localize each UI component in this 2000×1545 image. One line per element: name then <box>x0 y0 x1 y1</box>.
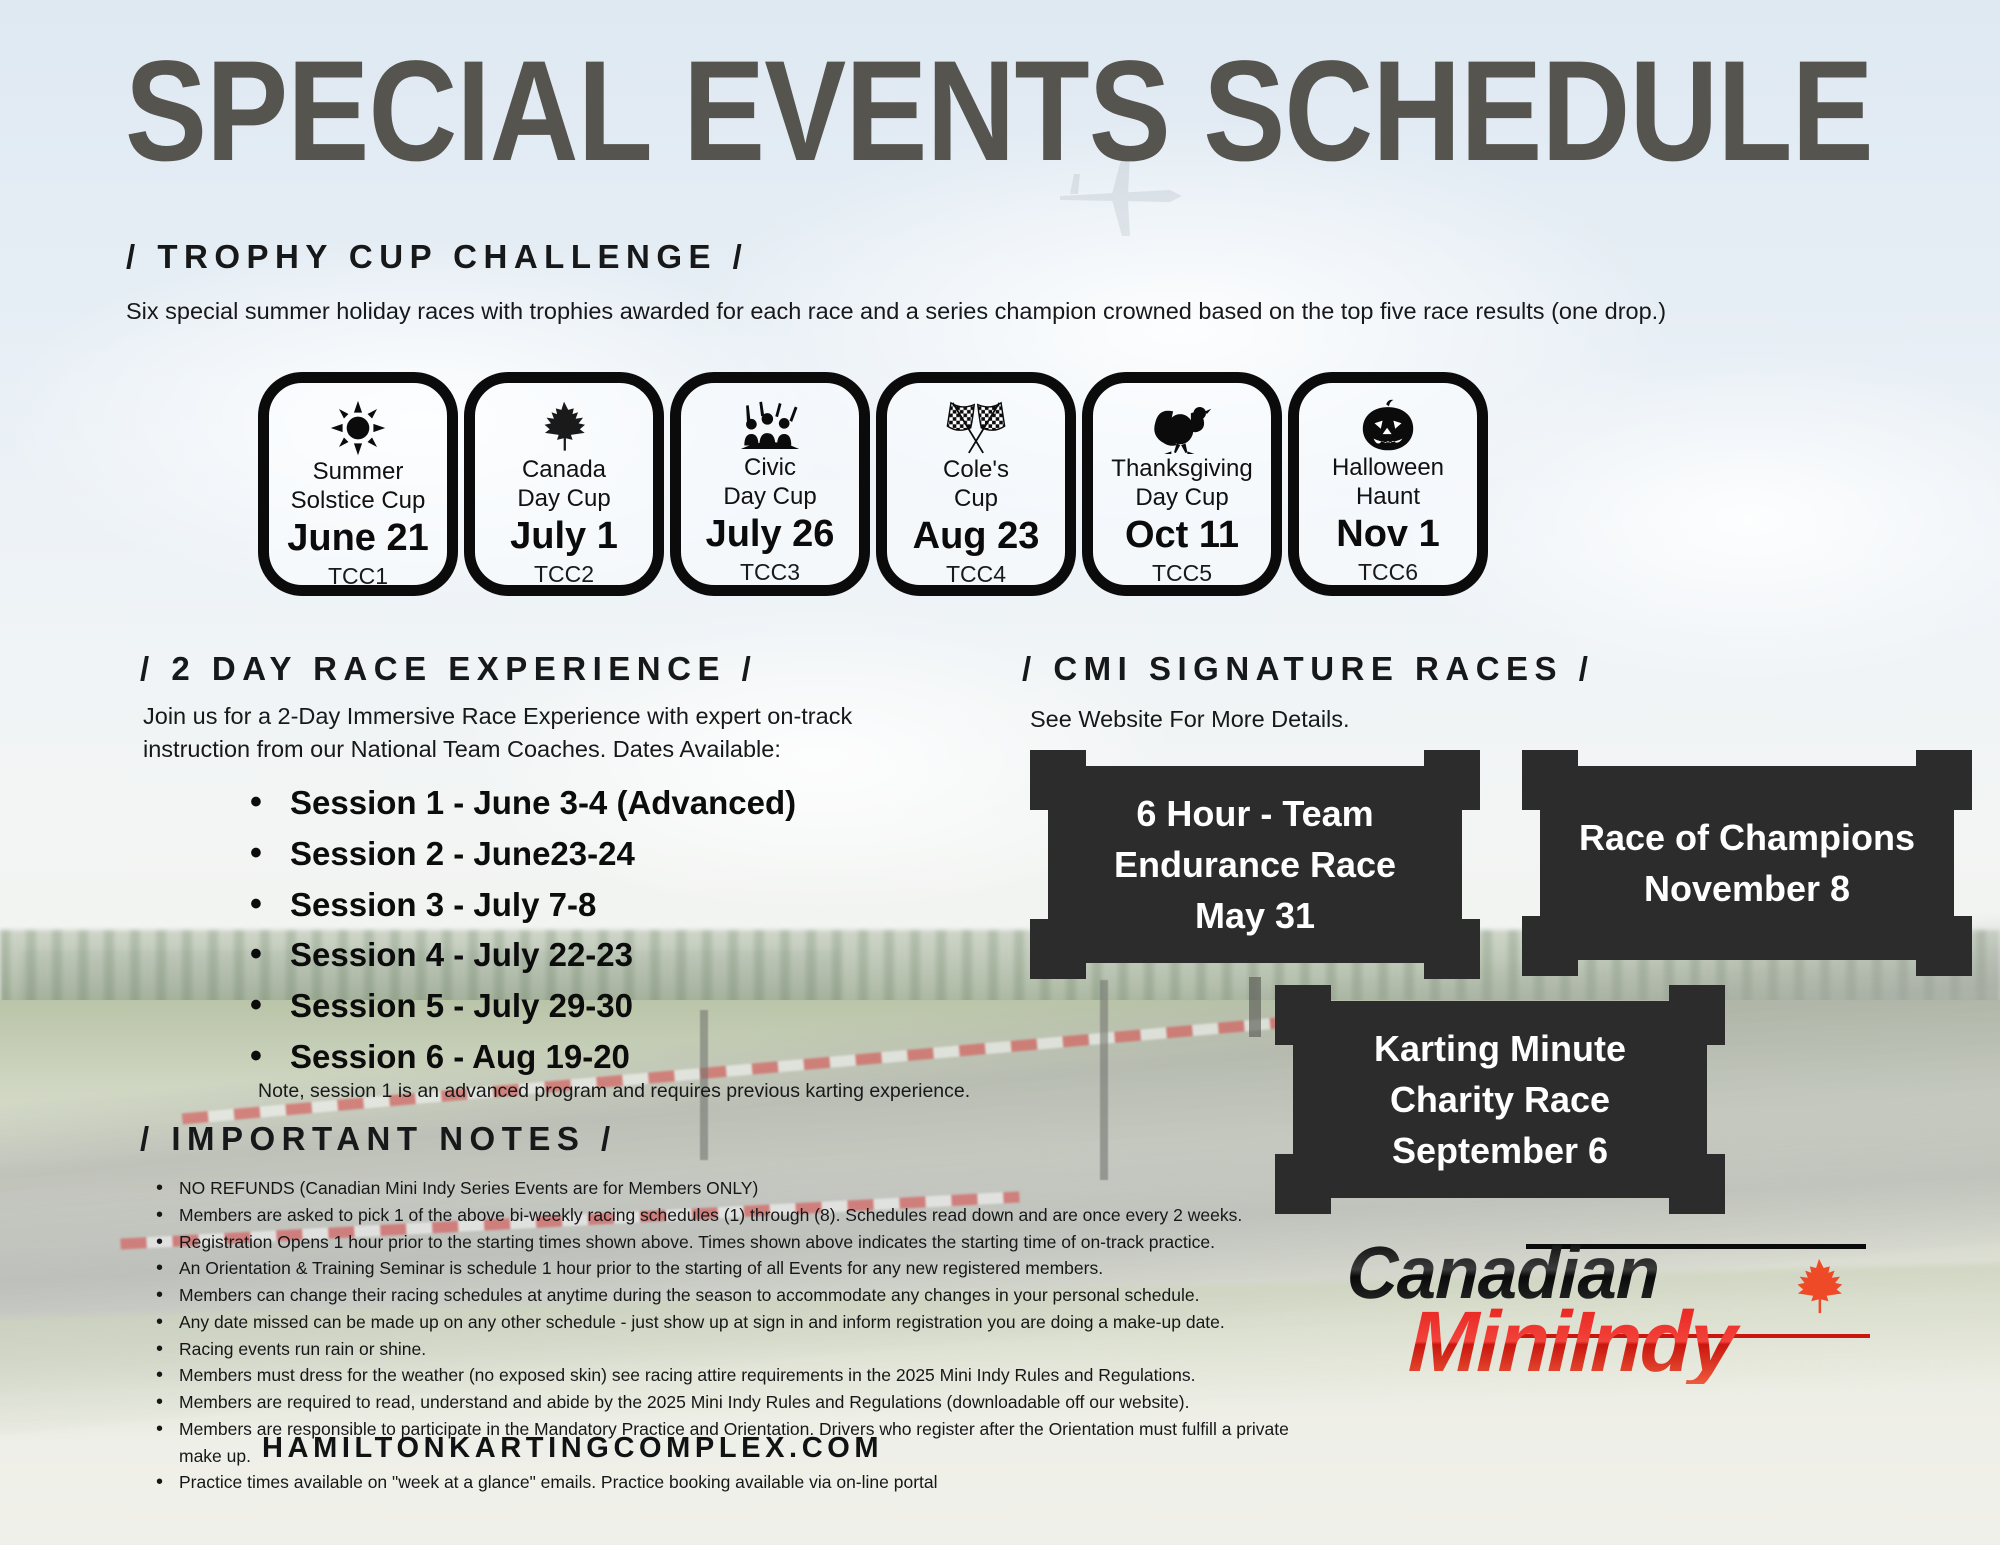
two-day-description: Join us for a 2-Day Immersive Race Exper… <box>143 700 943 767</box>
list-item: Session 3 - July 7-8 <box>248 880 796 931</box>
crowd-cheer-icon <box>739 399 801 453</box>
badge-date: Aug 23 <box>913 516 1040 558</box>
trophy-cup-badge-row: Summer Solstice Cup June 21 TCC1 Canada … <box>258 372 1494 596</box>
trophy-badge-tcc2[interactable]: Canada Day Cup July 1 TCC2 <box>464 372 664 596</box>
list-item: Session 2 - June23-24 <box>248 829 796 880</box>
badge-date: July 26 <box>706 514 835 556</box>
list-item: Racing events run rain or shine. <box>152 1336 1302 1363</box>
list-item: Practice times available on "week at a g… <box>152 1469 1302 1496</box>
sign-bracket: 6 Hour - Team Endurance Race May 31 <box>1030 750 1480 979</box>
sign-bracket: Karting Minute Charity Race September 6 <box>1275 985 1725 1214</box>
sign-line: Charity Race <box>1323 1074 1677 1125</box>
signature-race-card-endurance[interactable]: 6 Hour - Team Endurance Race May 31 <box>1030 750 1480 979</box>
list-item: Members must dress for the weather (no e… <box>152 1362 1302 1389</box>
trophy-badge-tcc6[interactable]: Halloween Haunt Nov 1 TCC6 <box>1288 372 1488 596</box>
session-disclaimer: Note, session 1 is an advanced program a… <box>258 1080 970 1103</box>
list-item: NO REFUNDS (Canadian Mini Indy Series Ev… <box>152 1175 1302 1202</box>
trophy-cup-description: Six special summer holiday races with tr… <box>126 298 1666 325</box>
sign-panel: Karting Minute Charity Race September 6 <box>1293 1001 1707 1198</box>
badge-label-line2: Day Cup <box>1135 484 1228 512</box>
sign-line: 6 Hour - Team <box>1078 788 1432 839</box>
session-list: Session 1 - June 3-4 (Advanced) Session … <box>248 778 796 1083</box>
list-item: Registration Opens 1 hour prior to the s… <box>152 1229 1302 1256</box>
badge-label-line2: Day Cup <box>723 483 816 511</box>
sign-line: May 31 <box>1078 890 1432 941</box>
section-heading-cmi-signature-races: / CMI SIGNATURE RACES / <box>1022 650 1594 688</box>
sign-line: Karting Minute <box>1323 1023 1677 1074</box>
checkered-flags-icon <box>942 399 1010 455</box>
badge-label-line2: Day Cup <box>517 485 610 513</box>
section-heading-2-day-race-experience: / 2 DAY RACE EXPERIENCE / <box>140 650 757 688</box>
sign-panel: Race of Champions November 8 <box>1540 766 1954 960</box>
signature-race-card-race-of-champions[interactable]: Race of Champions November 8 <box>1522 750 1972 976</box>
badge-date: Nov 1 <box>1336 514 1439 556</box>
section-heading-important-notes: / IMPORTANT NOTES / <box>140 1120 617 1158</box>
badge-date: June 21 <box>287 518 429 560</box>
page-title: SPECIAL EVENTS SCHEDULE <box>125 40 1873 183</box>
list-item: Any date missed can be made up on any ot… <box>152 1309 1302 1336</box>
badge-label-line2: Solstice Cup <box>291 487 426 515</box>
badge-code: TCC5 <box>1152 560 1212 587</box>
signature-race-card-charity[interactable]: Karting Minute Charity Race September 6 <box>1275 985 1725 1214</box>
canadian-mini-indy-logo: Canadian MiniIndy <box>1348 1238 1868 1398</box>
list-item: Session 4 - July 22-23 <box>248 930 796 981</box>
badge-code: TCC4 <box>946 561 1006 588</box>
trophy-badge-tcc3[interactable]: Civic Day Cup July 26 TCC3 <box>670 372 870 596</box>
badge-label-line2: Haunt <box>1356 483 1420 511</box>
logo-text-miniindy: MiniIndy <box>1407 1302 1859 1384</box>
badge-code: TCC2 <box>534 561 594 588</box>
badge-label-line1: Halloween <box>1332 454 1444 482</box>
list-item: Session 5 - July 29-30 <box>248 981 796 1032</box>
badge-label-line1: Cole's <box>943 456 1009 484</box>
badge-code: TCC1 <box>328 563 388 590</box>
turkey-icon <box>1150 399 1214 454</box>
badge-code: TCC6 <box>1358 559 1418 586</box>
badge-label-line2: Cup <box>954 485 998 513</box>
sign-panel: 6 Hour - Team Endurance Race May 31 <box>1048 766 1462 963</box>
trophy-badge-tcc5[interactable]: Thanksgiving Day Cup Oct 11 TCC5 <box>1082 372 1282 596</box>
sun-icon <box>329 399 387 457</box>
list-item: Members are asked to pick 1 of the above… <box>152 1202 1302 1229</box>
list-item: Members can change their racing schedule… <box>152 1282 1302 1309</box>
sign-line: September 6 <box>1323 1125 1677 1176</box>
badge-label-line1: Thanksgiving <box>1111 455 1252 483</box>
sign-line: Race of Champions <box>1570 812 1924 863</box>
list-item: Session 1 - June 3-4 (Advanced) <box>248 778 796 829</box>
cmi-description: See Website For More Details. <box>1030 706 1350 733</box>
list-item: Members are required to read, understand… <box>152 1389 1302 1416</box>
badge-label-line1: Canada <box>522 456 606 484</box>
pumpkin-icon <box>1359 399 1417 453</box>
sign-line: November 8 <box>1570 863 1924 914</box>
badge-label-line1: Civic <box>744 454 796 482</box>
sign-bracket: Race of Champions November 8 <box>1522 750 1972 976</box>
section-heading-trophy-cup: / TROPHY CUP CHALLENGE / <box>126 238 748 276</box>
list-item: An Orientation & Training Seminar is sch… <box>152 1255 1302 1282</box>
trophy-badge-tcc4[interactable]: Cole's Cup Aug 23 TCC4 <box>876 372 1076 596</box>
sign-post <box>1249 977 1261 1037</box>
badge-code: TCC3 <box>740 559 800 586</box>
list-item: Session 6 - Aug 19-20 <box>248 1032 796 1083</box>
trophy-badge-tcc1[interactable]: Summer Solstice Cup June 21 TCC1 <box>258 372 458 596</box>
badge-date: Oct 11 <box>1125 515 1239 557</box>
badge-date: July 1 <box>510 516 618 558</box>
sign-line: Endurance Race <box>1078 839 1432 890</box>
maple-leaf-icon <box>536 399 592 455</box>
footer-website-url: HAMILTONKARTINGCOMPLEX.COM <box>262 1432 883 1465</box>
badge-label-line1: Summer <box>313 458 404 486</box>
